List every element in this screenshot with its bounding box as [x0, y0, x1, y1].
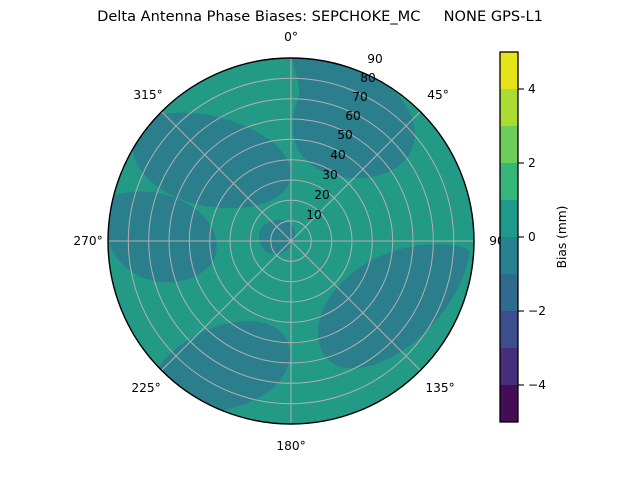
colorbar-band-4 — [500, 237, 518, 274]
colorbar-band-7 — [500, 126, 518, 163]
colorbar-band-1 — [500, 348, 518, 385]
colorbar-tick-4: 4 — [528, 82, 536, 96]
r-tick-80: 80 — [360, 71, 376, 85]
colorbar-tick-neg4: −4 — [528, 378, 546, 392]
theta-tick-45: 45° — [427, 88, 449, 102]
r-tick-30: 30 — [322, 168, 338, 182]
colorbar-tick-neg2: −2 — [528, 304, 546, 318]
angular-gridlines — [108, 58, 474, 424]
r-tick-50: 50 — [337, 128, 353, 142]
colorbar-band-3 — [500, 274, 518, 311]
colorbar-tick-0: 0 — [528, 230, 536, 244]
r-tick-60: 60 — [345, 109, 361, 123]
colorbar: 4 2 0 −2 −4 Bias (mm) — [500, 52, 569, 422]
theta-tick-135: 135° — [425, 381, 454, 395]
theta-tick-315: 315° — [133, 88, 162, 102]
colorbar-band-2 — [500, 311, 518, 348]
r-tick-70: 70 — [352, 90, 368, 104]
polar-chart-svg: 0° 45° 90 135° 180° 225° 270° 315° 10 20… — [0, 0, 640, 480]
r-tick-10: 10 — [306, 208, 322, 222]
colorbar-band-5 — [500, 200, 518, 237]
colorbar-band-9 — [500, 52, 518, 89]
theta-tick-225: 225° — [131, 381, 160, 395]
colorbar-ticks — [518, 89, 524, 385]
figure-canvas: Delta Antenna Phase Biases: SEPCHOKE_MC … — [0, 0, 640, 480]
colorbar-tick-labels: 4 2 0 −2 −4 — [528, 82, 546, 392]
colorbar-axis-label: Bias (mm) — [555, 206, 569, 269]
colorbar-tick-2: 2 — [528, 156, 536, 170]
r-tick-40: 40 — [330, 148, 346, 162]
colorbar-band-0 — [500, 385, 518, 422]
polar-plot-area: 0° 45° 90 135° 180° 225° 270° 315° 10 20… — [0, 0, 640, 480]
r-tick-20: 20 — [314, 188, 330, 202]
r-tick-90: 90 — [367, 52, 383, 66]
theta-tick-270: 270° — [73, 234, 102, 248]
theta-tick-180: 180° — [276, 439, 305, 453]
colorbar-band-8 — [500, 89, 518, 126]
colorbar-band-6 — [500, 163, 518, 200]
theta-tick-0: 0° — [284, 30, 298, 44]
colorbar-bands — [500, 52, 518, 422]
